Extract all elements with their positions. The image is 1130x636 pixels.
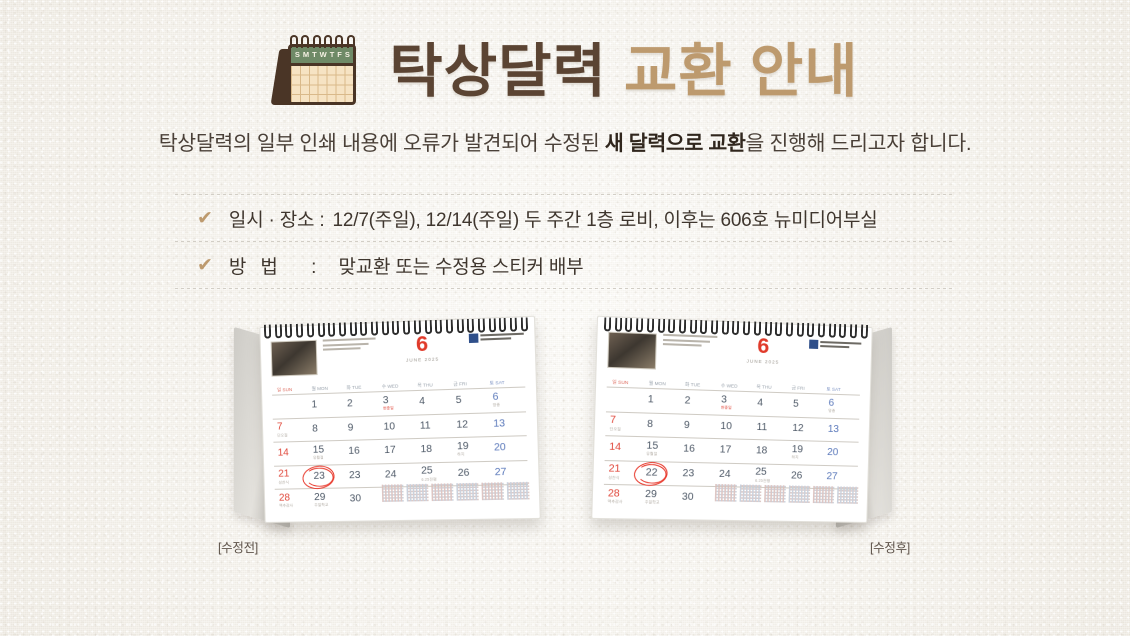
calendar-day: 15유월절 [309,445,345,461]
calendar-day: 7단오절 [605,416,643,433]
calendar-day-note: 유월절 [646,453,679,457]
calendar-page: 6 JUNE 2025 일 SUN 월 MON 화 TUE [591,316,873,523]
weekday-thu: 목 THU [414,382,450,389]
calendar-day: 19하지 [787,445,823,461]
calendar-day: 7단오절 [273,422,309,438]
calendar-month-number: 6 [723,334,803,358]
calendar-icon-body: S M T W T F S [288,44,356,105]
calendar-day: 21성찬식 [274,469,310,485]
calendar-day: 9 [680,420,717,431]
calendar-day: 14 [274,448,309,459]
calendar-icon-spiral-rings [288,35,356,51]
calendar-day: 3현충일 [379,395,416,411]
calendar-day: 11 [416,420,453,431]
calendar-day: 26 [787,471,823,482]
detail-value-method: 맞교환 또는 수정용 스티커 배부 [338,252,583,279]
calendar-day: 6망종 [488,391,526,408]
calendar-day: 29주일학교 [310,492,346,508]
weekday-mon: 월 MON [308,385,343,392]
calendar-day: 3현충일 [717,395,754,411]
calendar-icon-weekday-3: W [320,51,327,59]
calendar-day-marked: 23 [309,471,345,482]
calendar-sheet: 6 JUNE 2025 일 SUN 월 MON 화 TUE [592,317,871,522]
calendar-day-marked: 22 [641,468,678,479]
subtitle-after: 을 진행해 드리고자 합니다. [746,132,972,155]
calendar-photo-thumbnail [271,340,318,377]
detail-divider-bottom [175,288,955,289]
calendar-month-english: JUNE 2025 [382,356,463,364]
poster-content: S M T W T F S 탁상달력 교환 안내 탁상달력의 일부 인쇄 내용에… [0,0,1130,636]
calendar-day: 5 [789,400,825,411]
calendar-day: 26 [453,468,490,479]
calendar-day: 24 [381,469,417,480]
calendar-day: 1 [643,395,680,406]
calendar-day: 16 [344,446,380,457]
calendar-day: 256.25전쟁 [751,468,787,484]
calendar-day: 10 [379,421,415,432]
calendar-day: 30 [678,493,715,504]
calendar-day: 4 [415,396,452,407]
calendar-day: 15유월절 [642,441,679,457]
calendar-after: 6 JUNE 2025 일 SUN 월 MON 화 TUE [568,319,898,534]
calendar-church-logo [809,340,861,351]
calendar-sheet-header: 6 JUNE 2025 [607,332,861,386]
calendar-day: 19하지 [453,441,490,457]
calendar-day-note: 6.25전쟁 [755,479,787,483]
calendar-day: 23 [345,470,381,481]
calendar-day: 18 [752,446,788,457]
calendar-day: 1 [307,400,343,411]
calendar-day: 12 [788,423,824,434]
calendar-day: 27 [490,467,528,478]
calendar-day: 17 [715,445,751,456]
calendar-day-note: 망종 [828,410,859,415]
calendar-day: 6망종 [824,398,860,414]
weekday-sat: 토 SAT [486,379,523,386]
detail-label-method: 방법 : [229,252,331,279]
calendar-day-note: 주일학교 [645,501,678,505]
weekday-wed: 수 WED [379,383,415,390]
poster-header: S M T W T F S 탁상달력 교환 안내 [0,0,1130,92]
detail-row-method: ✔ 방법 : 맞교환 또는 수정용 스티커 배부 [175,242,955,288]
calendar-day: 20 [823,448,858,459]
weekday-thu: 목 THU [753,384,788,391]
calendar-day: 13 [489,418,527,429]
calendar-day: 24 [715,469,751,480]
detail-list: ✔ 일시 · 장소 : 12/7(주일), 12/14(주일) 두 주간 1층 … [175,194,955,289]
desk-calendar-photo-before: 6 JUNE 2025 일 SUN 월 MON 화 TUE [228,319,558,534]
calendar-day-note: 하지 [791,456,823,460]
calendar-day: 12 [452,419,489,430]
calendar-day: 14 [605,443,643,454]
weekday-fri: 금 FRI [788,385,823,392]
calendar-comparison: 6 JUNE 2025 일 SUN 월 MON 화 TUE [0,319,1130,569]
calendar-day: 28맥추감사 [603,489,641,505]
desk-calendar-icon: S M T W T F S [271,35,363,109]
calendar-mini-year-strip [715,484,859,504]
calendar-memo-lines [323,337,376,353]
weekday-mon: 월 MON [645,381,681,388]
calendar-day: 2 [343,399,379,410]
weekday-sun: 일 SUN [274,386,309,393]
check-icon: ✔ [197,209,213,228]
calendar-day: 16 [679,445,716,456]
calendar-caption-after: [수정후] [870,537,910,556]
calendar-sheet: 6 JUNE 2025 일 SUN 월 MON 화 TUE [260,317,539,522]
calendar-day-note: 단오절 [610,428,643,433]
calendar-day: 30 [346,494,382,505]
calendar-day: 2 [680,396,717,407]
weekday-tue: 화 TUE [343,384,378,391]
check-icon: ✔ [197,256,213,275]
calendar-day: 18 [416,445,453,456]
calendar-icon-weekday-1: M [303,51,309,59]
calendar-day-note: 성찬식 [608,476,641,480]
calendar-day: 10 [716,421,752,432]
calendar-day: 28맥추감사 [275,493,311,509]
calendar-page: 6 JUNE 2025 일 SUN 월 MON 화 TUE [259,316,541,523]
calendar-day [272,406,307,407]
calendar-day-note: 하지 [457,453,490,457]
calendar-mini-year-strip [382,482,530,502]
calendar-day-note: 맥추감사 [608,501,641,505]
calendar-memo-lines [663,334,718,350]
subtitle-emphasis: 새 달력으로 교환 [605,132,746,155]
weekday-sun: 일 SUN [609,379,646,386]
calendar-sheet-header: 6 JUNE 2025 [271,332,525,386]
calendar-day-note: 맥추감사 [279,504,310,508]
calendar-month-english: JUNE 2025 [723,358,803,366]
page-title-accent: 교환 안내 [624,39,859,104]
desk-calendar-photo-after: 6 JUNE 2025 일 SUN 월 MON 화 TUE [568,319,898,534]
calendar-month-block: 6 JUNE 2025 [382,332,464,364]
weekday-wed: 수 WED [718,383,754,390]
calendar-before: 6 JUNE 2025 일 SUN 월 MON 화 TUE [228,319,558,534]
detail-value-schedule: 12/7(주일), 12/14(주일) 두 주간 1층 로비, 이후는 606호… [333,205,878,232]
calendar-caption-before: [수정전] [218,537,258,556]
calendar-day: 17 [380,445,416,456]
calendar-day: 29주일학교 [641,489,678,505]
calendar-day: 27 [822,472,857,483]
calendar-day: 9 [344,422,380,433]
detail-row-schedule: ✔ 일시 · 장소 : 12/7(주일), 12/14(주일) 두 주간 1층 … [175,195,955,241]
weekday-fri: 금 FRI [450,381,486,388]
calendar-day: 21성찬식 [604,464,642,480]
calendar-day-note: 6.25전쟁 [421,478,453,482]
calendar-day: 8 [643,419,680,430]
calendar-day-note: 망종 [493,403,526,408]
calendar-day-note: 성찬식 [278,481,309,485]
weekday-tue: 화 TUE [682,382,718,389]
calendar-day [606,399,643,400]
subtitle-before: 탁상달력의 일부 인쇄 내용에 오류가 발견되어 수정된 [159,132,605,155]
calendar-day: 256.25전쟁 [417,466,454,482]
calendar-day-note: 현충일 [721,407,753,412]
calendar-day-note: 현충일 [383,407,415,412]
calendar-icon-weekday-4: T [330,51,335,59]
calendar-icon-weekday-0: S [295,51,300,59]
calendar-day: 13 [824,424,859,435]
calendar-month-block: 6 JUNE 2025 [723,334,803,365]
page-title-primary: 탁상달력 [389,39,606,104]
calendar-icon-grid [291,66,353,105]
calendar-photo-thumbnail [607,332,657,370]
subtitle: 탁상달력의 일부 인쇄 내용에 오류가 발견되어 수정된 새 달력으로 교환을 … [0,126,1130,156]
calendar-day-note: 유월절 [313,456,345,460]
calendar-day: 5 [451,395,488,406]
calendar-day-note: 주일학교 [314,504,346,508]
detail-label-schedule: 일시 · 장소 : [229,205,325,232]
calendar-day: 23 [678,469,715,480]
calendar-icon-weekday-6: S [345,51,350,59]
calendar-day: 4 [753,399,789,410]
calendar-icon-weekday-2: T [312,51,317,59]
calendar-day: 20 [490,443,528,454]
weekday-sat: 토 SAT [823,386,858,393]
calendar-icon-weekday-5: F [337,51,342,59]
calendar-day: 8 [308,423,344,434]
calendar-day: 11 [752,422,788,433]
calendar-day-note: 단오절 [277,433,308,437]
page-title: 탁상달력 교환 안내 [389,43,858,101]
